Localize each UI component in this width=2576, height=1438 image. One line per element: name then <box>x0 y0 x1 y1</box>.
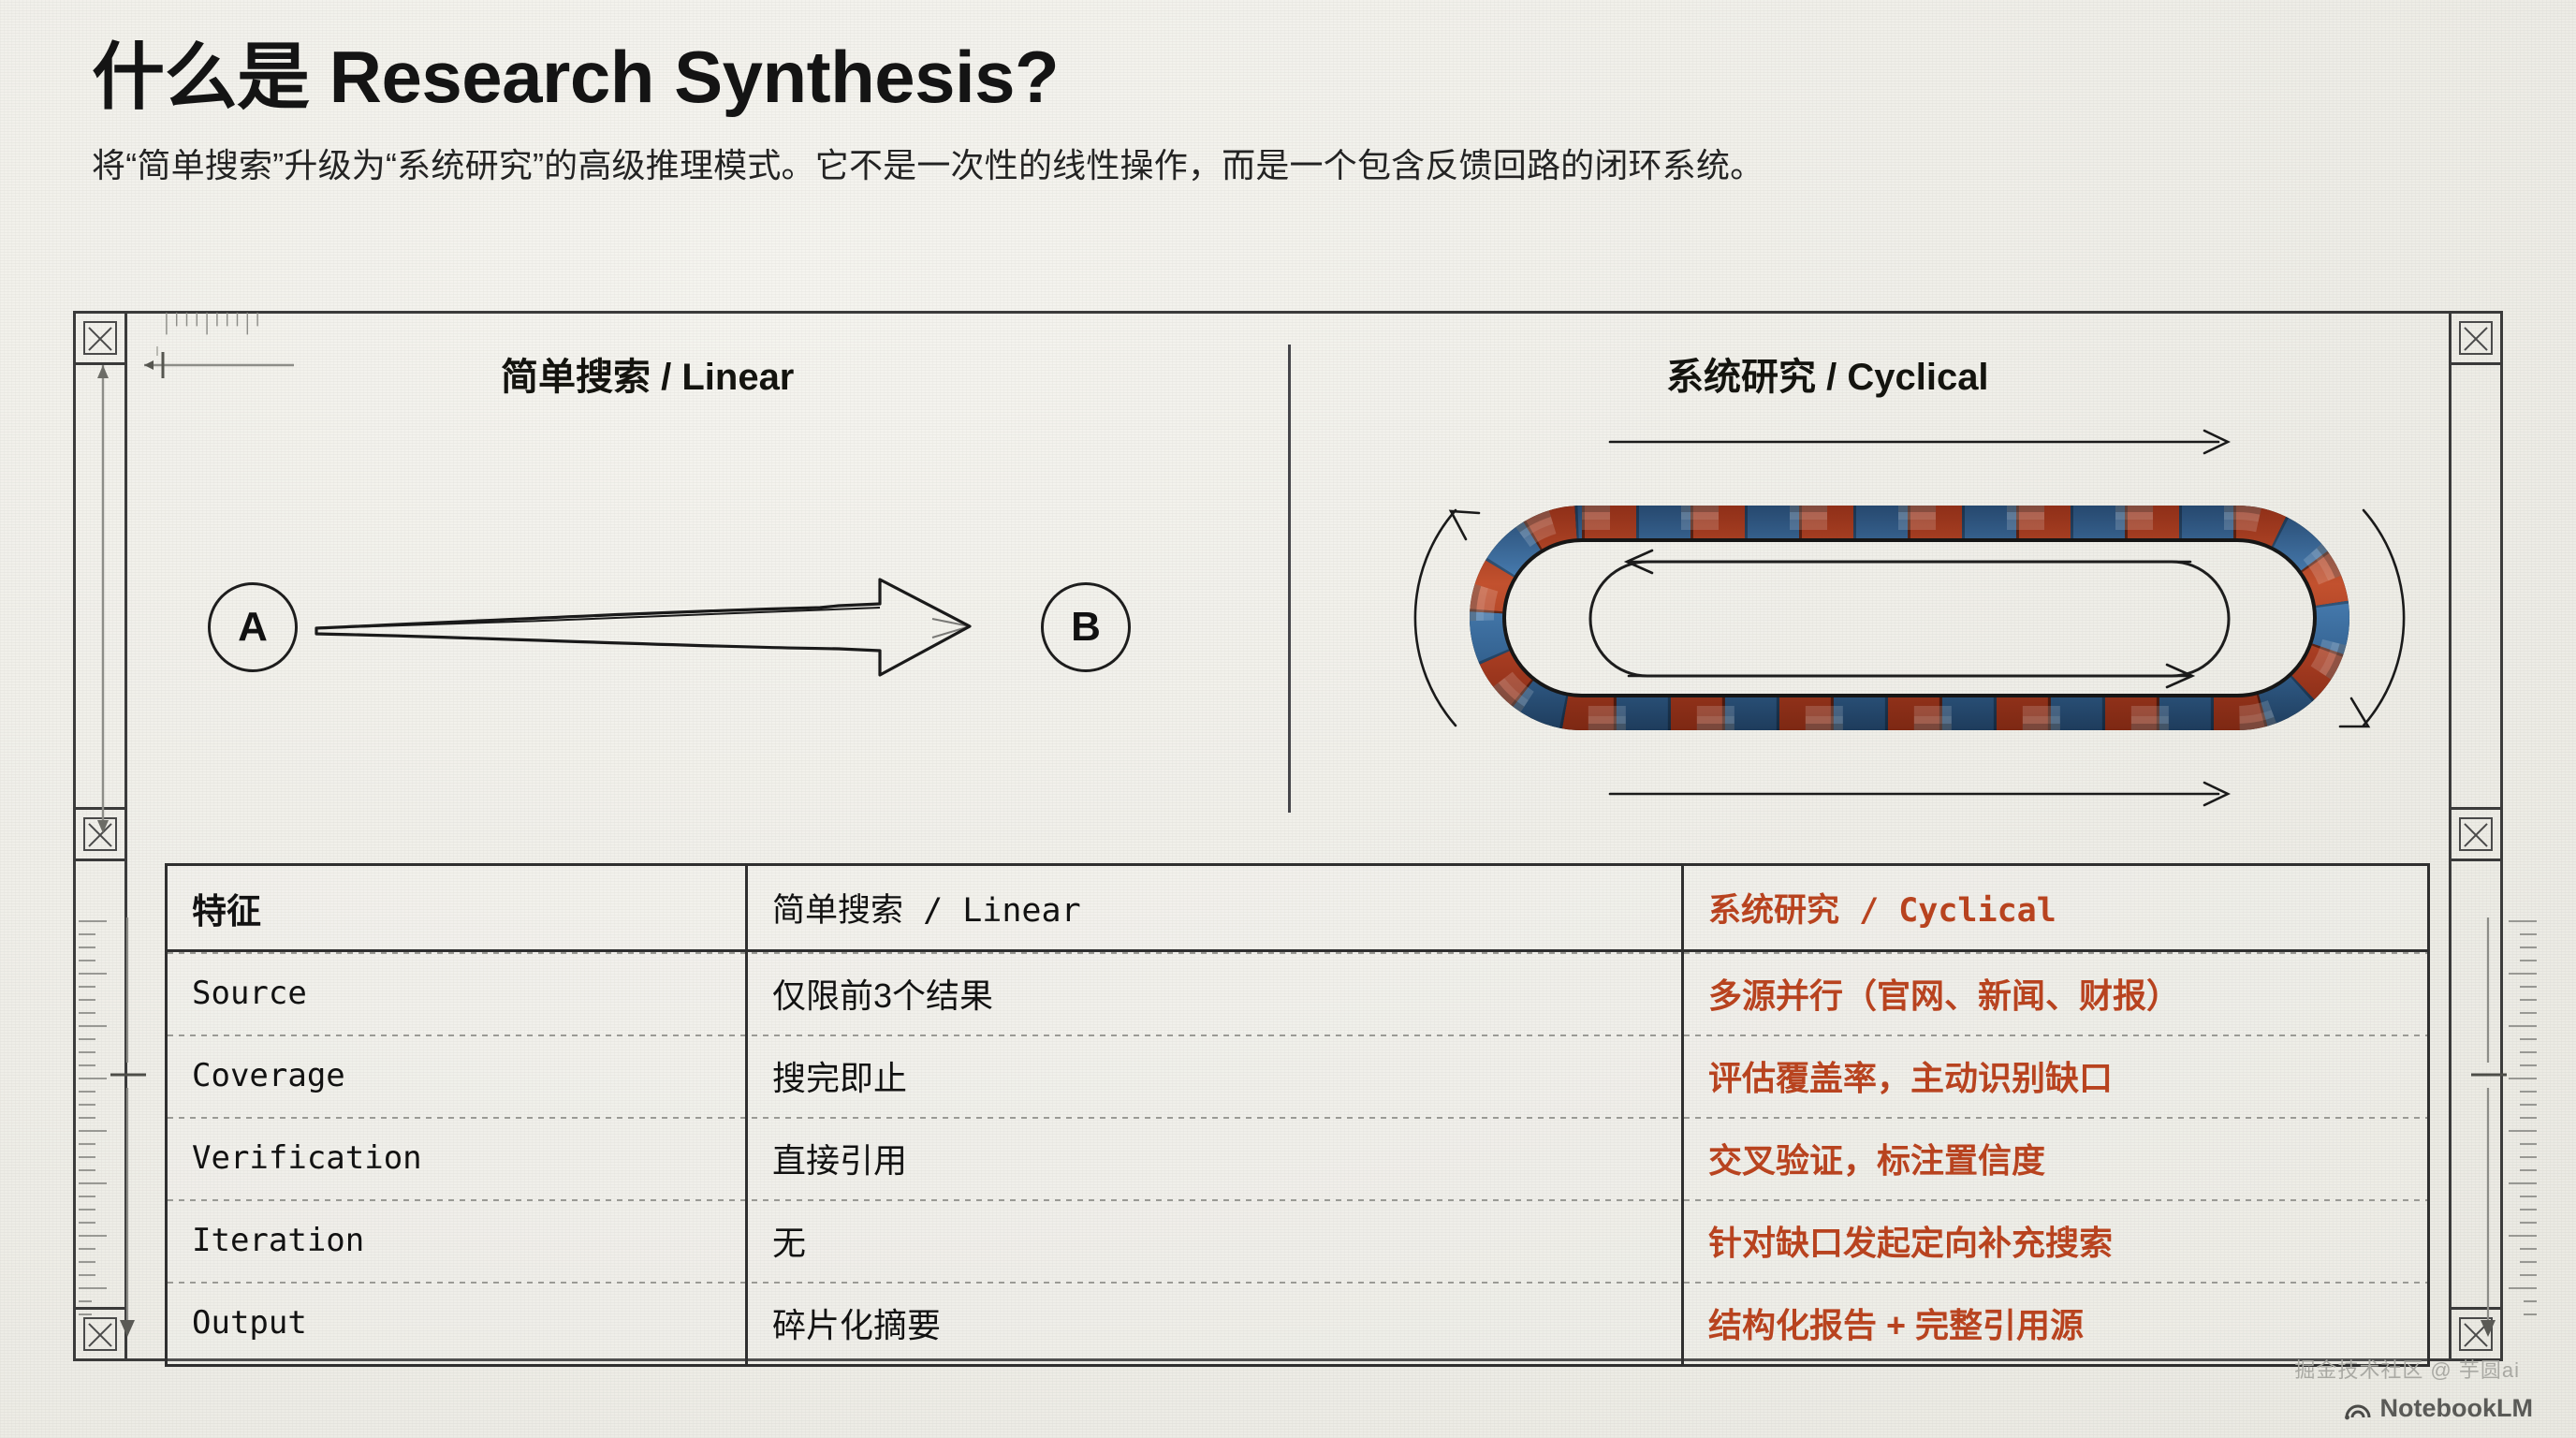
cell-linear: 直接引用 <box>748 1117 1684 1199</box>
comparison-table: 特征 简单搜索 / Linear 系统研究 / Cyclical Source … <box>165 863 2430 1367</box>
cell-cyclical: 交叉验证，标注置信度 <box>1684 1117 2427 1199</box>
dimension-arrow-icon <box>144 346 303 384</box>
cell-linear: 搜完即止 <box>748 1034 1684 1117</box>
table-header-row: 特征 简单搜索 / Linear 系统研究 / Cyclical <box>168 866 2427 952</box>
notebooklm-logo-icon <box>2344 1397 2372 1421</box>
table-row: Source 仅限前3个结果 多源并行（官网、新闻、财报） <box>168 952 2427 1034</box>
panel-heading-cyclical: 系统研究 / Cyclical <box>1666 346 1989 401</box>
cell-cyclical: 多源并行（官网、新闻、财报） <box>1684 952 2427 1034</box>
cell-feature: Output <box>168 1282 748 1364</box>
column-header-feature: 特征 <box>168 866 748 949</box>
table-row: Verification 直接引用 交叉验证，标注置信度 <box>168 1117 2427 1199</box>
column-header-linear: 简单搜索 / Linear <box>748 866 1684 949</box>
linear-arrow-icon <box>315 566 1054 688</box>
panel-divider <box>1288 345 1291 813</box>
cell-feature: Coverage <box>168 1034 748 1117</box>
ruler-icon <box>79 917 163 1348</box>
cell-feature: Source <box>168 952 748 1034</box>
cell-cyclical: 评估覆盖率，主动识别缺口 <box>1684 1034 2427 1117</box>
cell-feature: Verification <box>168 1117 748 1199</box>
cell-linear: 无 <box>748 1199 1684 1282</box>
ruler-icon <box>2452 917 2537 1348</box>
cell-linear: 碎片化摘要 <box>748 1282 1684 1364</box>
ruler-icon <box>157 313 326 346</box>
community-watermark: 掘金技术社区 @ 芋圆ai <box>2294 1354 2520 1384</box>
infographic-page: 什么是 Research Synthesis? 将“简单搜索”升级为“系统研究”… <box>0 0 2576 1438</box>
page-subtitle: 将“简单搜索”升级为“系统研究”的高级推理模式。它不是一次性的线性操作，而是一个… <box>92 139 2488 187</box>
cell-cyclical: 结构化报告 + 完整引用源 <box>1684 1282 2427 1364</box>
cell-feature: Iteration <box>168 1199 748 1282</box>
node-a: A <box>208 582 298 672</box>
node-b: B <box>1041 582 1131 672</box>
column-header-cyclical: 系统研究 / Cyclical <box>1684 866 2427 949</box>
crossed-box-icon <box>2449 311 2503 365</box>
table-row: Iteration 无 针对缺口发起定向补充搜索 <box>168 1199 2427 1282</box>
panel-heading-linear: 简单搜索 / Linear <box>501 346 794 401</box>
vertical-measure-arrow-left <box>84 365 122 833</box>
cyclical-rope-diagram <box>1348 421 2471 824</box>
page-title: 什么是 Research Synthesis? <box>92 37 2488 118</box>
cell-linear: 仅限前3个结果 <box>748 952 1684 1034</box>
header: 什么是 Research Synthesis? 将“简单搜索”升级为“系统研究”… <box>92 37 2488 187</box>
notebooklm-watermark: NotebookLM <box>2344 1394 2533 1423</box>
notebooklm-label: NotebookLM <box>2380 1394 2533 1423</box>
table-row: Output 碎片化摘要 结构化报告 + 完整引用源 <box>168 1282 2427 1364</box>
cell-cyclical: 针对缺口发起定向补充搜索 <box>1684 1199 2427 1282</box>
crossed-box-icon <box>73 311 127 365</box>
table-row: Coverage 搜完即止 评估覆盖率，主动识别缺口 <box>168 1034 2427 1117</box>
